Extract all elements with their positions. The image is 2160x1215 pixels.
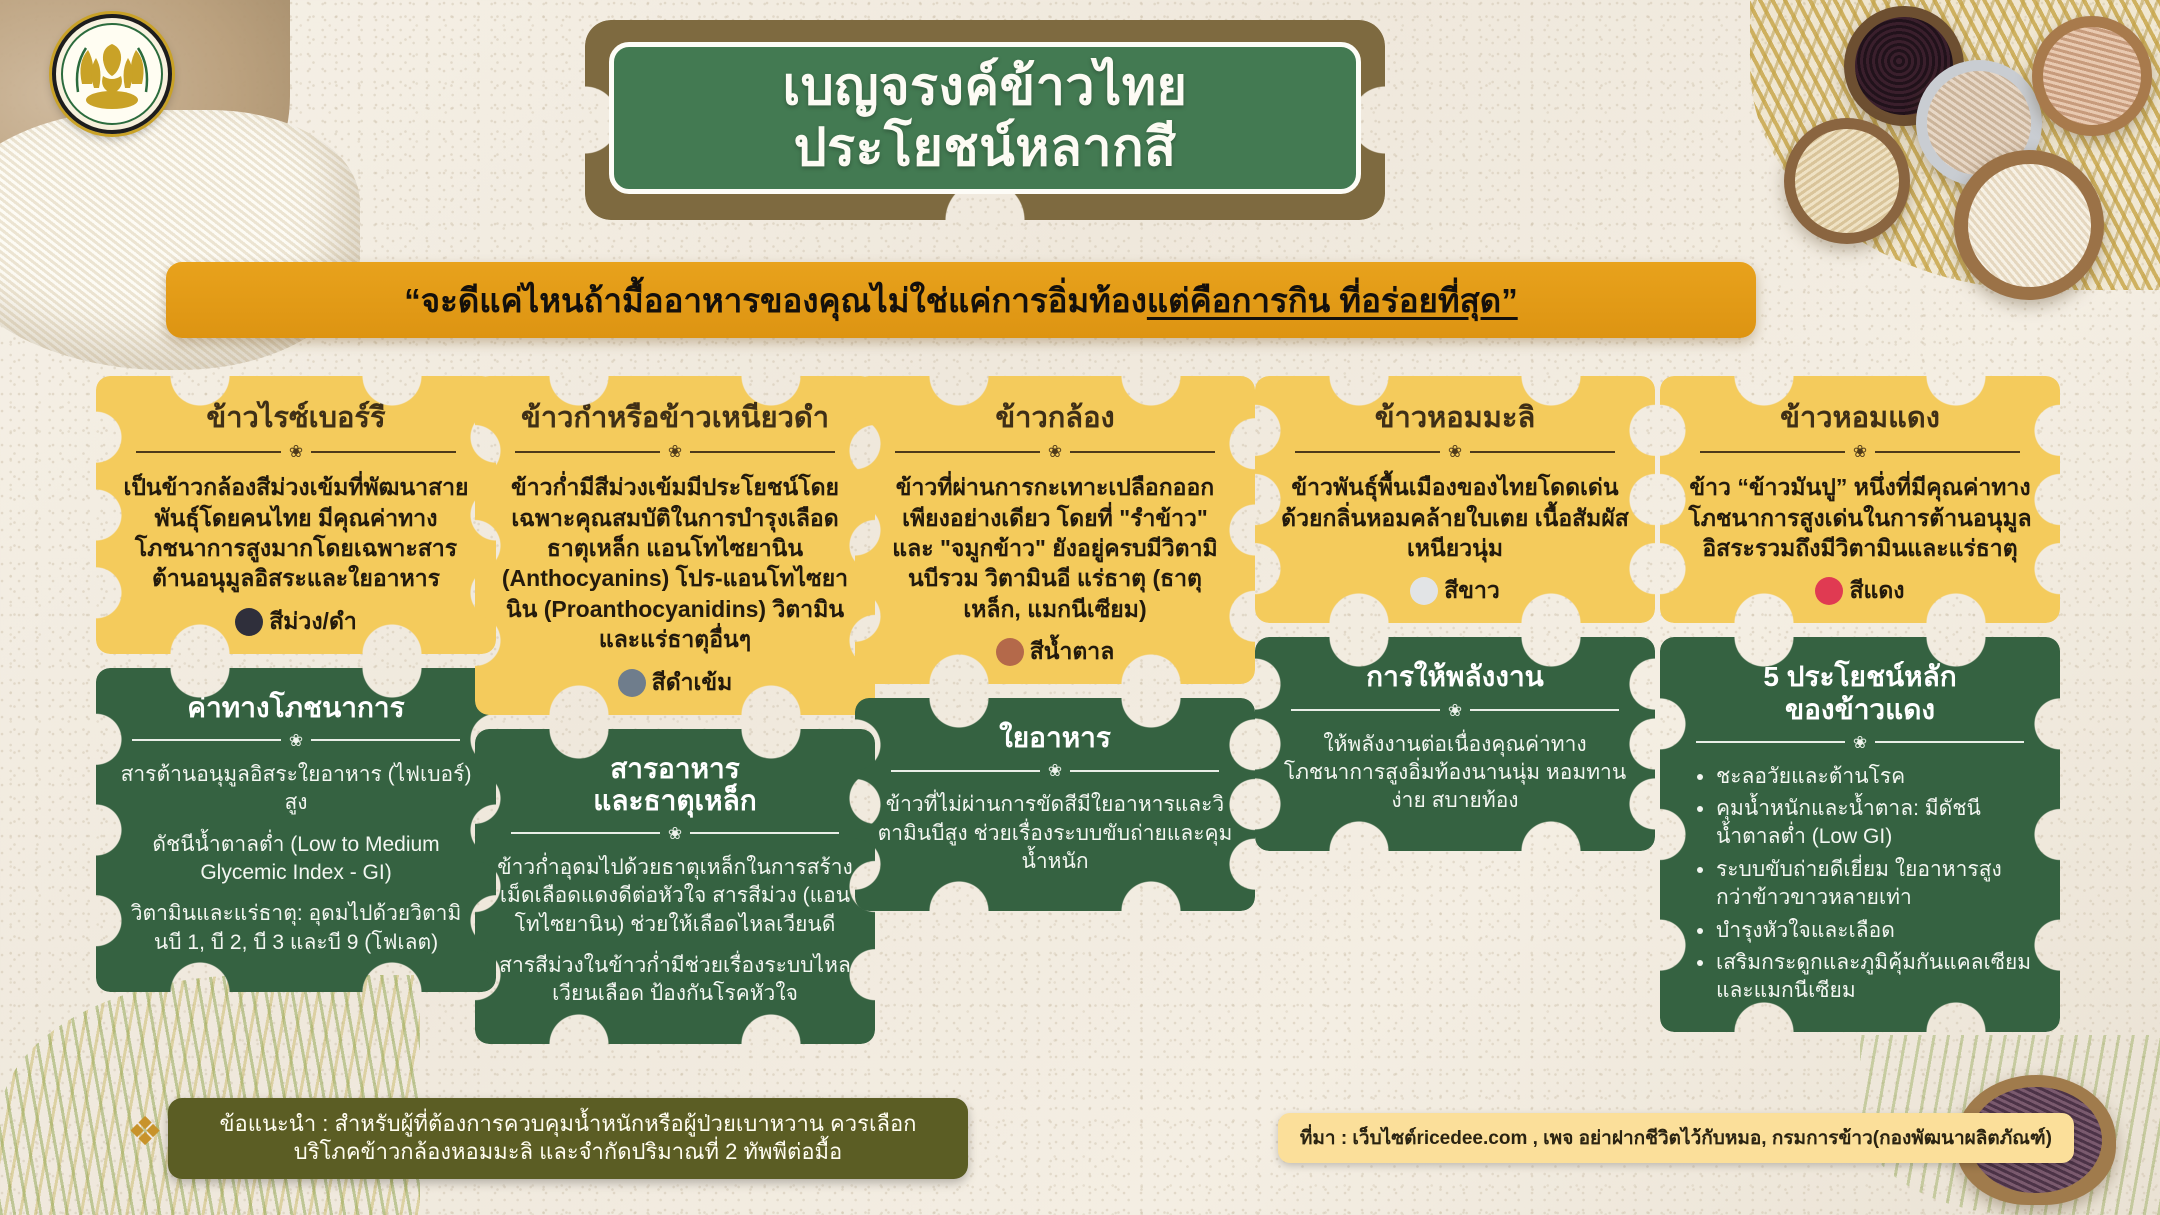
- rice-column-4: ข้าวหอมแดง ❀ ข้าว “ข้าวมันปู” หนึ่งที่มี…: [1660, 376, 2060, 1032]
- color-dot-icon: [235, 608, 263, 636]
- benefit-paragraph: ดัชนีน้ำตาลต่ำ (Low to Medium Glycemic I…: [118, 831, 474, 888]
- rice-card-1[interactable]: ข้าวก่ำหรือข้าวเหนียวดำ ❀ ข้าวก่ำมีสีม่ว…: [475, 376, 875, 715]
- color-swatch-row: สีม่วง/ดำ: [122, 604, 470, 640]
- color-dot-icon: [1815, 577, 1843, 605]
- benefit-panel-title-line-2: ของข้าวแดง: [1682, 694, 2038, 726]
- benefit-bullet: ระบบขับถ่ายดีเยี่ยม ใยอาหารสูงกว่าข้าวขา…: [1716, 856, 2038, 913]
- benefit-panel-0[interactable]: ค่าทางโภชนาการ ❀ สารต้านอนุมูลอิสระใยอาห…: [96, 668, 496, 992]
- ornament-divider: ❀: [891, 762, 1219, 779]
- color-swatch-label: สีน้ำตาล: [1030, 634, 1115, 670]
- rice-card-title: ข้าวหอมมะลิ: [1281, 402, 1629, 435]
- page-title-line-2: ประโยชน์หลากสี: [794, 120, 1177, 177]
- color-swatch-row: สีแดง: [1686, 573, 2034, 609]
- rice-card-0[interactable]: ข้าวไรซ์เบอร์รี่ ❀ เป็นข้าวกล้องสีม่วงเข…: [96, 376, 496, 654]
- color-swatch-row: สีดำเข้ม: [501, 665, 849, 701]
- benefit-panel-1[interactable]: สารอาหาร และธาตุเหล็ก ❀ ข้าวก่ำอุดมไปด้ว…: [475, 729, 875, 1044]
- brown-rice-bowl-photo: [1784, 118, 1910, 244]
- ornament-divider: ❀: [1295, 443, 1615, 460]
- red-rice-bowl-photo: [2032, 16, 2152, 136]
- benefit-panel-title-line-2: และธาตุเหล็ก: [497, 785, 853, 817]
- title-banner: เบญจรงค์ข้าวไทย ประโยชน์หลากสี: [585, 20, 1385, 220]
- rice-card-3[interactable]: ข้าวหอมมะลิ ❀ ข้าวพันธุ์พื้นเมืองของไทยโ…: [1255, 376, 1655, 623]
- quote-main-text: “จะดีแค่ไหนถ้ามื้ออาหารของคุณไม่ใช่แค่กา…: [404, 274, 1147, 327]
- color-dot-icon: [1410, 577, 1438, 605]
- ornament-badge-icon: ❖: [118, 1105, 172, 1159]
- benefit-paragraph: ข้าวก่ำอุดมไปด้วยธาตุเหล็กในการสร้างเม็ด…: [497, 854, 853, 939]
- benefit-bullet: เสริมกระดูกและภูมิคุ้มกันแคลเซียมและแมกน…: [1716, 949, 2038, 1006]
- rice-column-1: ข้าวก่ำหรือข้าวเหนียวดำ ❀ ข้าวก่ำมีสีม่ว…: [475, 376, 875, 1044]
- benefit-panel-title: การให้พลังงาน: [1277, 661, 1633, 693]
- rice-card-body: ข้าวพันธุ์พื้นเมืองของไทยโดดเด่นด้วยกลิ่…: [1281, 472, 1629, 563]
- ornament-divider: ❀: [1291, 702, 1619, 719]
- benefit-paragraph: สารต้านอนุมูลอิสระใยอาหาร (ไฟเบอร์) สูง: [118, 761, 474, 818]
- color-swatch-label: สีดำเข้ม: [652, 665, 733, 701]
- page-title-line-1: เบญจรงค์ข้าวไทย: [782, 59, 1187, 116]
- rice-column-2: ข้าวกล้อง ❀ ข้าวที่ผ่านการกะเทาะเปลือกออ…: [855, 376, 1255, 911]
- color-swatch-label: สีขาว: [1444, 573, 1500, 609]
- ornament-divider: ❀: [1696, 734, 2024, 751]
- rice-card-2[interactable]: ข้าวกล้อง ❀ ข้าวที่ผ่านการกะเทาะเปลือกออ…: [855, 376, 1255, 684]
- benefit-paragraph: สารสีม่วงในข้าวก่ำมีช่วยเรื่องระบบไหลเวี…: [497, 952, 853, 1009]
- ornament-divider: ❀: [136, 443, 456, 460]
- color-swatch-label: สีแดง: [1849, 573, 1904, 609]
- ornament-divider: ❀: [132, 732, 460, 749]
- rice-card-4[interactable]: ข้าวหอมแดง ❀ ข้าว “ข้าวมันปู” หนึ่งที่มี…: [1660, 376, 2060, 623]
- benefit-panel-4[interactable]: 5 ประโยชน์หลัก ของข้าวแดง ❀ ชะลอวัยและต้…: [1660, 637, 2060, 1031]
- quote-banner: “จะดีแค่ไหนถ้ามื้ออาหารของคุณไม่ใช่แค่กา…: [166, 262, 1756, 338]
- benefit-bullet: ชะลอวัยและต้านโรค: [1716, 763, 2038, 791]
- rice-column-0: ข้าวไรซ์เบอร์รี่ ❀ เป็นข้าวกล้องสีม่วงเข…: [96, 376, 496, 992]
- benefit-panel-3[interactable]: การให้พลังงาน ❀ ให้พลังงานต่อเนื่องคุณค่…: [1255, 637, 1655, 850]
- rice-card-body: ข้าว “ข้าวมันปู” หนึ่งที่มีคุณค่าทางโภชน…: [1686, 472, 2034, 563]
- benefit-paragraph: ให้พลังงานต่อเนื่องคุณค่าทางโภชนาการสูงอ…: [1277, 731, 1633, 816]
- rice-card-body: ข้าวก่ำมีสีม่วงเข้มมีประโยชน์โดยเฉพาะคุณ…: [501, 472, 849, 654]
- ornament-divider: ❀: [511, 825, 839, 842]
- benefit-panel-title-line-1: สารอาหาร: [497, 753, 853, 785]
- color-dot-icon: [618, 669, 646, 697]
- rice-card-title: ข้าวไรซ์เบอร์รี่: [122, 402, 470, 435]
- benefit-panel-title: ใยอาหาร: [877, 722, 1233, 754]
- color-swatch-label: สีม่วง/ดำ: [269, 604, 357, 640]
- quote-highlight-text: แต่คือการกิน ที่อร่อยที่สุด”: [1147, 274, 1518, 327]
- rice-column-3: ข้าวหอมมะลิ ❀ ข้าวพันธุ์พื้นเมืองของไทยโ…: [1255, 376, 1655, 851]
- source-credit: ที่มา : เว็บไซต์ricedee.com , เพจ อย่าฝา…: [1278, 1113, 2074, 1163]
- benefit-bullet: บำรุงหัวใจและเลือด: [1716, 917, 2038, 945]
- rice-card-body: เป็นข้าวกล้องสีม่วงเข้มที่พัฒนาสายพันธุ์…: [122, 472, 470, 593]
- rice-card-body: ข้าวที่ผ่านการกะเทาะเปลือกออกเพียงอย่างเ…: [881, 472, 1229, 624]
- color-swatch-row: สีน้ำตาล: [881, 634, 1229, 670]
- color-swatch-row: สีขาว: [1281, 573, 1629, 609]
- benefit-bullet-list: ชะลอวัยและต้านโรค คุมน้ำหนักและน้ำตาล: ม…: [1682, 763, 2038, 1006]
- benefit-panel-title-line-1: 5 ประโยชน์หลัก: [1682, 661, 2038, 693]
- rice-card-title: ข้าวหอมแดง: [1686, 402, 2034, 435]
- title-banner-inner: เบญจรงค์ข้าวไทย ประโยชน์หลากสี: [609, 42, 1361, 194]
- recommendation-line-2: บริโภคข้าวกล้องหอมมะลิ และจำกัดปริมาณที่…: [294, 1138, 843, 1167]
- rice-card-title: ข้าวกล้อง: [881, 402, 1229, 435]
- benefit-bullet: คุมน้ำหนักและน้ำตาล: มีดัชนีน้ำตาลต่ำ (L…: [1716, 795, 2038, 852]
- ornament-divider: ❀: [515, 443, 835, 460]
- ornament-divider: ❀: [1700, 443, 2020, 460]
- benefit-panel-2[interactable]: ใยอาหาร ❀ ข้าวที่ไม่ผ่านการขัดสีมีใยอาหา…: [855, 698, 1255, 911]
- benefit-paragraph: ข้าวที่ไม่ผ่านการขัดสีมีใยอาหารและวิตามิ…: [877, 791, 1233, 876]
- benefit-paragraph: วิตามินและแร่ธาตุ: อุดมไปด้วยวิตามินบี 1…: [118, 900, 474, 957]
- white-rice-bowl-photo: [1954, 150, 2104, 300]
- color-dot-icon: [996, 638, 1024, 666]
- rice-department-logo: [52, 14, 172, 134]
- recommendation-line-1: ข้อแนะนำ : สำหรับผู้ที่ต้องการควบคุมน้ำห…: [220, 1110, 917, 1139]
- rice-grass-bottom-left-photo: [0, 975, 420, 1215]
- rice-card-title: ข้าวก่ำหรือข้าวเหนียวดำ: [501, 402, 849, 435]
- ornament-divider: ❀: [895, 443, 1215, 460]
- recommendation-note: ข้อแนะนำ : สำหรับผู้ที่ต้องการควบคุมน้ำห…: [168, 1098, 968, 1179]
- benefit-panel-title: ค่าทางโภชนาการ: [118, 692, 474, 724]
